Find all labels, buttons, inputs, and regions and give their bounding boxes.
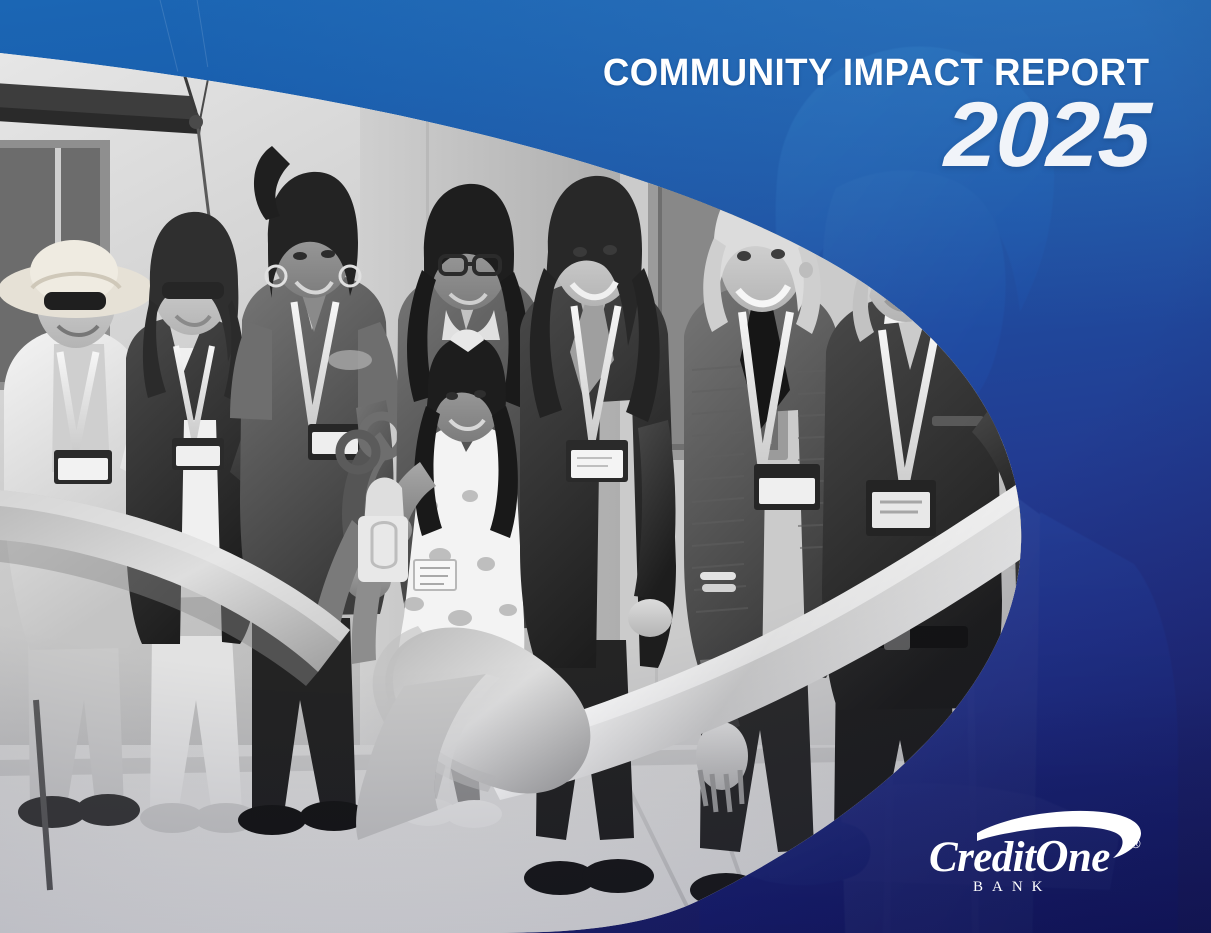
- logo-wordmark: CreditOne: [929, 830, 1110, 881]
- cover-headline: COMMUNITY IMPACT REPORT 2025: [583, 54, 1149, 179]
- credit-one-bank-logo: CreditOne ® BANK: [925, 803, 1161, 895]
- report-cover-page: COMMUNITY IMPACT REPORT 2025 CreditOne ®…: [0, 0, 1211, 933]
- logo-bank-text: BANK: [973, 879, 1052, 895]
- report-year: 2025: [569, 91, 1151, 179]
- registered-trademark-icon: ®: [1131, 836, 1141, 851]
